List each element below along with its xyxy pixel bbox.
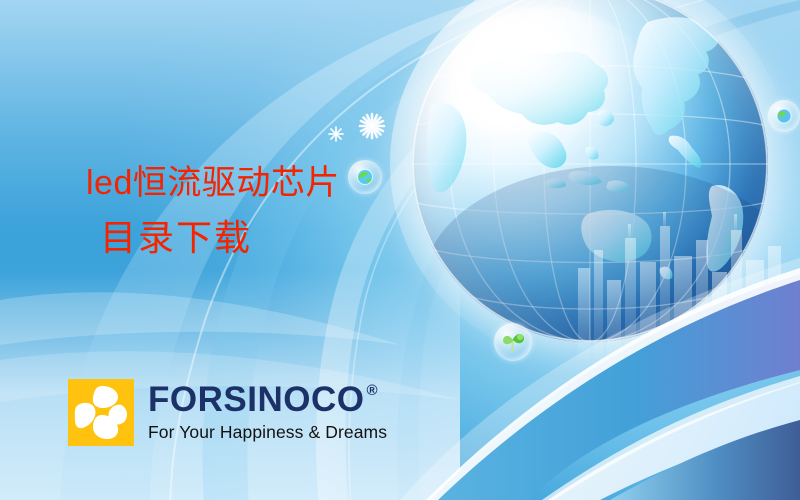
brand-name: FORSINOCO	[148, 382, 364, 417]
brand-logo[interactable]: FORSINOCO ® For Your Happiness & Dreams	[68, 379, 387, 446]
starburst-large-icon	[358, 112, 386, 140]
brand-tagline: For Your Happiness & Dreams	[148, 422, 387, 443]
bubble-globe-small	[348, 160, 382, 194]
promo-banner: led恒流驱动芯片 目录下载 FORSINOCO ®	[0, 0, 800, 500]
bubble-top-right	[768, 100, 800, 132]
globe-illustration	[412, 0, 768, 342]
brand-wordmark: FORSINOCO ®	[148, 382, 387, 417]
bubble-leaf	[494, 323, 532, 361]
globe-rim	[412, 0, 768, 342]
pinwheel-petals-icon	[68, 379, 134, 446]
headline-line-1: led恒流驱动芯片	[86, 163, 340, 203]
registered-trademark-icon: ®	[366, 383, 378, 398]
headline-line-2: 目录下载	[100, 217, 340, 259]
brand-lockup-text: FORSINOCO ® For Your Happiness & Dreams	[148, 379, 387, 443]
starburst-small-icon	[328, 126, 344, 142]
headline: led恒流驱动芯片 目录下载	[86, 163, 340, 260]
